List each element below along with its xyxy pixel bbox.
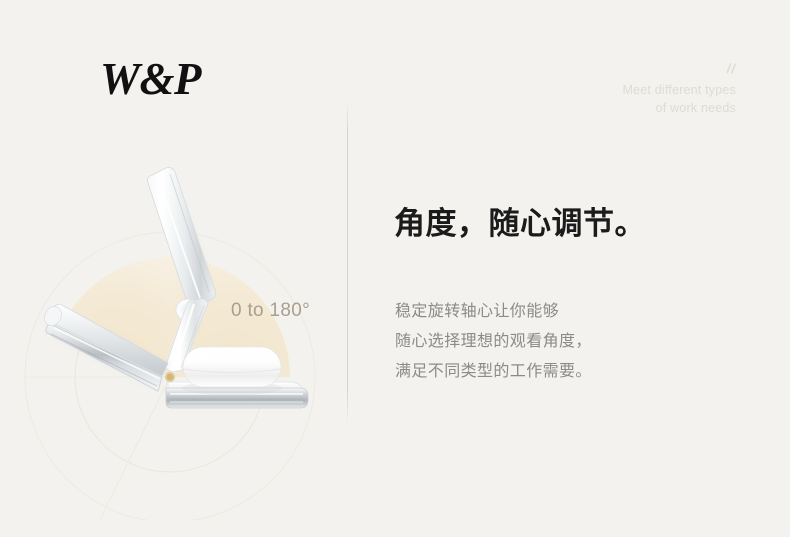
tagline-line-1: Meet different types — [622, 81, 736, 99]
product-feature-banner: W&P // Meet different types of work need… — [0, 0, 790, 537]
earbuds-case — [182, 347, 282, 395]
header-tagline: // Meet different types of work needs — [622, 60, 736, 117]
slash-mark-icon: // — [622, 60, 736, 79]
hinge-pivot-dot — [165, 372, 175, 382]
brand-logo: W&P — [100, 57, 201, 102]
body-line-3: 满足不同类型的工作需要。 — [395, 357, 592, 387]
body-line-2: 随心选择理想的观看角度， — [395, 327, 592, 357]
page-headline: 角度，随心调节。 — [394, 198, 646, 243]
angle-range-label: 0 to 180° — [231, 300, 310, 322]
tagline-line-2: of work needs — [622, 99, 736, 117]
body-line-1: 稳定旋转轴心让你能够 — [395, 297, 592, 327]
body-copy: 稳定旋转轴心让你能够 随心选择理想的观看角度， 满足不同类型的工作需要。 — [395, 297, 592, 387]
